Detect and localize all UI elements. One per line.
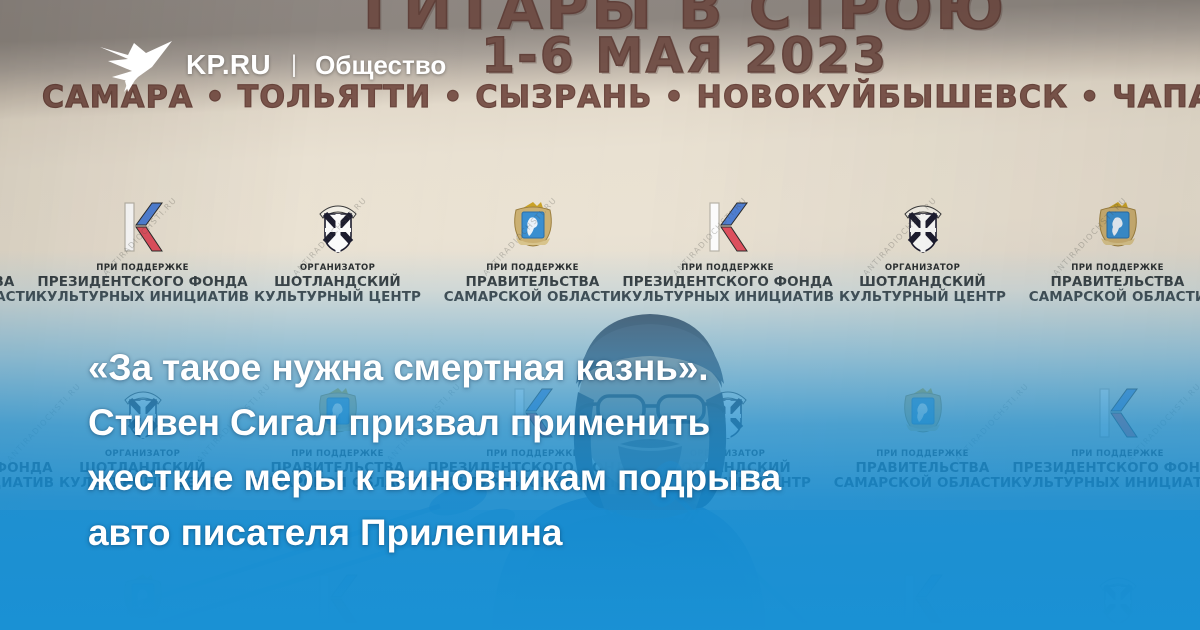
site-brand[interactable]: KP.RU: [186, 49, 271, 81]
swallow-bird-icon: [98, 37, 172, 93]
section-rubric[interactable]: Общество: [315, 50, 446, 81]
headline-line: авто писателя Прилепина: [88, 505, 988, 560]
header-separator: |: [291, 51, 297, 79]
article-share-card: ГИТАРЫ В СТРОЮ 1-6 МАЯ 2023 САМАРА • ТОЛ…: [0, 0, 1200, 630]
headline-line: Стивен Сигал призвал применить: [88, 395, 988, 450]
headline-line: жесткие меры к виновникам подрыва: [88, 450, 988, 505]
site-header: KP.RU | Общество: [98, 36, 446, 94]
headline-line: «За такое нужна смертная казнь».: [88, 340, 988, 395]
article-headline[interactable]: «За такое нужна смертная казнь». Стивен …: [88, 340, 988, 560]
